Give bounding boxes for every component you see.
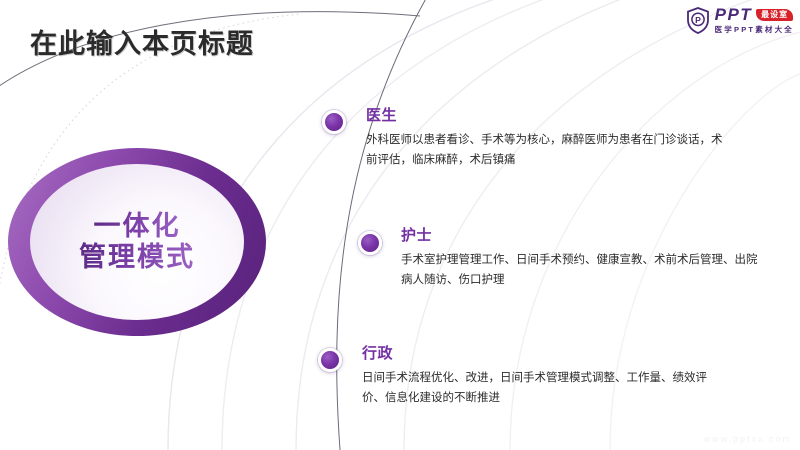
page-title: 在此输入本页标题 — [30, 22, 254, 61]
center-ring: 一体化 管理模式 — [8, 148, 266, 336]
node-title-nurse: 护士 — [401, 224, 761, 245]
brand-top-row: PPT 最设室 — [715, 6, 794, 23]
node-body-admin: 日间手术流程优化、改进，日间手术管理模式调整、工作量、绩效评价、信息化建设的不断… — [362, 368, 722, 408]
node-dot-nurse[interactable] — [358, 231, 382, 255]
brand-name: PPT — [715, 6, 753, 23]
node-title-doctor: 医生 — [366, 104, 726, 125]
slide-canvas: 在此输入本页标题 P PPT 最设室 医学PPT素材大全 一体化 管理模式 医生… — [0, 0, 800, 450]
node-block-admin: 行政 日间手术流程优化、改进，日间手术管理模式调整、工作量、绩效评价、信息化建设… — [362, 342, 722, 408]
node-block-doctor: 医生 外科医师以患者看诊、手术等为核心，麻醉医师为患者在门诊谈话，术前评估，临床… — [366, 104, 726, 170]
shield-icon: P — [686, 7, 710, 34]
node-title-admin: 行政 — [362, 342, 722, 363]
node-dot-admin[interactable] — [318, 348, 342, 372]
watermark: www.pptxx.com — [703, 434, 792, 444]
node-dot-doctor[interactable] — [322, 110, 346, 134]
brand-badge: 最设室 — [756, 9, 793, 21]
svg-text:P: P — [695, 14, 701, 24]
node-block-nurse: 护士 手术室护理管理工作、日间手术预约、健康宣教、术前术后管理、出院病人随访、伤… — [401, 224, 761, 290]
center-label-line2: 管理模式 — [79, 242, 195, 273]
node-body-doctor: 外科医师以患者看诊、手术等为核心，麻醉医师为患者在门诊谈话，术前评估，临床麻醉，… — [366, 130, 726, 170]
center-label-line1: 一体化 — [94, 211, 181, 242]
brand-text-group: PPT 最设室 医学PPT素材大全 — [715, 6, 794, 34]
brand-logo: P PPT 最设室 医学PPT素材大全 — [686, 5, 794, 35]
center-label: 一体化 管理模式 — [8, 148, 266, 336]
node-body-nurse: 手术室护理管理工作、日间手术预约、健康宣教、术前术后管理、出院病人随访、伤口护理 — [401, 250, 761, 290]
brand-tagline: 医学PPT素材大全 — [715, 26, 794, 34]
